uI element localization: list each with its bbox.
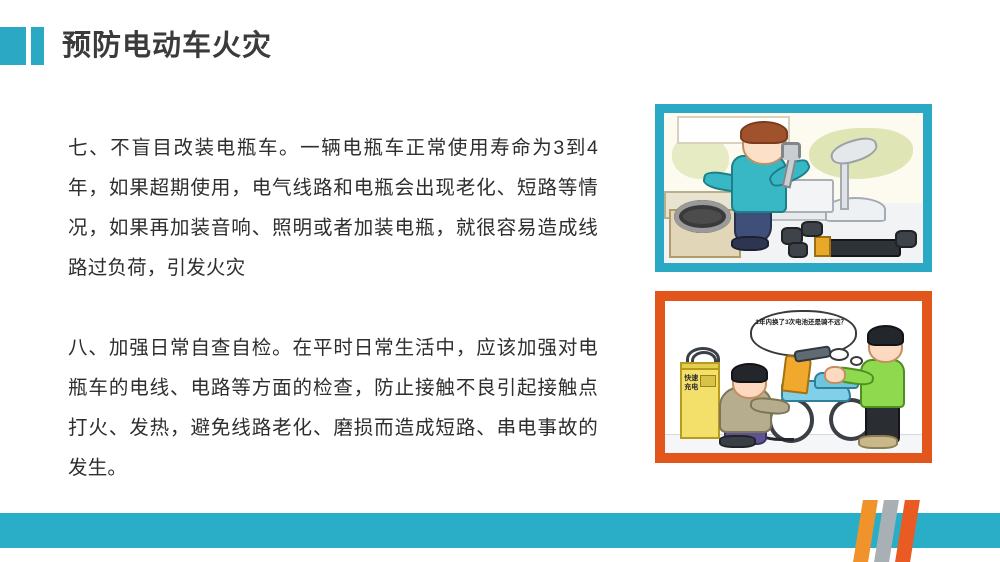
footer-ribbon-red — [895, 500, 920, 562]
loose-part-2 — [801, 221, 823, 237]
illustration-repair-scene — [664, 113, 923, 263]
title-accent-marks — [0, 27, 44, 65]
accent-block-wide-icon — [0, 27, 26, 65]
illustration-charging-frame: 快速充电 1年内换了3次电池还是骑不远？ — [655, 291, 932, 463]
charging-station-tag — [700, 375, 716, 386]
paragraph-seven: 七、不盲目改装电瓶车。一辆电瓶车正常使用寿命为3到4年，如果超期使用，电气线路和… — [68, 128, 598, 288]
person-standing-hand — [824, 366, 846, 384]
loose-part-4 — [895, 230, 917, 248]
person-standing-hair — [867, 325, 904, 346]
paragraph-eight: 八、加强日常自查自检。在平时日常生活中，应该加强对电瓶车的电线、电路等方面的检查… — [68, 328, 598, 488]
slide-header: 预防电动车火灾 — [0, 26, 272, 66]
person-crouching-shoe — [719, 435, 756, 448]
charging-station-label: 快速充电 — [684, 374, 699, 392]
slide-canvas: 预防电动车火灾 七、不盲目改装电瓶车。一辆电瓶车正常使用寿命为3到4年，如果超期… — [0, 0, 1000, 562]
page-title: 预防电动车火灾 — [62, 32, 272, 61]
caution-marker — [814, 236, 831, 257]
worker-shoe — [731, 236, 769, 251]
footer-ribbon-group — [855, 500, 925, 562]
footer-ribbon-orange — [853, 500, 878, 562]
wrench-head-icon — [781, 142, 801, 160]
worker-hair — [740, 121, 788, 145]
illustration-repair-frame — [655, 104, 932, 272]
speech-bubble-text: 1年内换了3次电池还是骑不远？ — [755, 318, 848, 327]
tool-strip — [819, 239, 901, 257]
footer-band — [0, 513, 1000, 548]
loose-part-3 — [788, 242, 808, 258]
accent-block-narrow-icon — [31, 27, 44, 65]
person-crouching-hair — [731, 363, 768, 382]
footer-ribbon-gray — [874, 500, 899, 562]
scooter-wheel — [674, 200, 731, 233]
illustration-charging-scene: 快速充电 1年内换了3次电池还是骑不远？ — [665, 301, 922, 453]
person-standing-shoe — [858, 435, 898, 450]
